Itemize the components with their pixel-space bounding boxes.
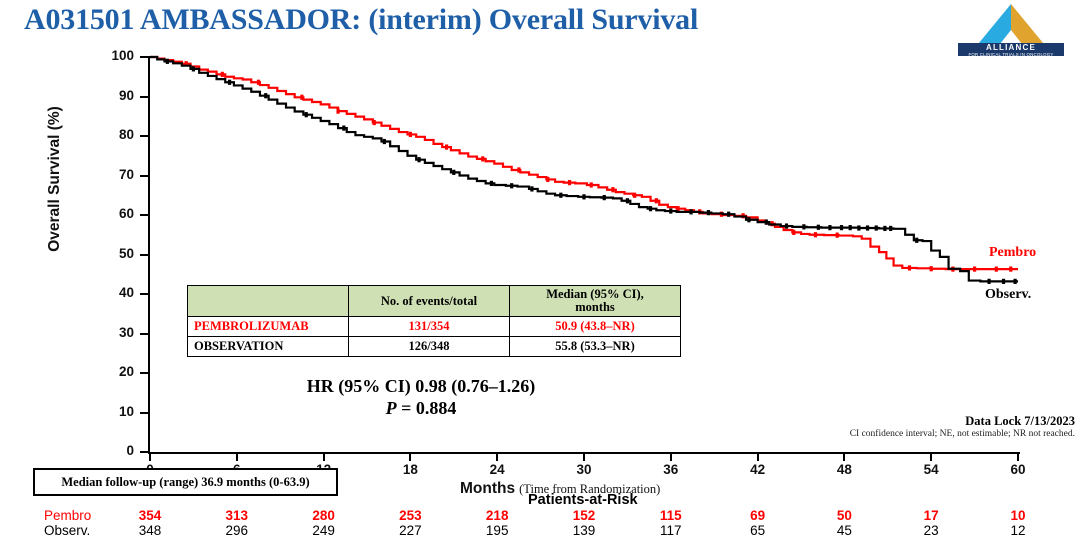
censor-mark bbox=[192, 66, 195, 71]
par-value-pembro: 17 bbox=[907, 508, 955, 523]
y-axis-tick bbox=[140, 333, 149, 335]
censor-mark bbox=[510, 183, 513, 188]
curve-label-pembro: Pembro bbox=[989, 245, 1036, 261]
censor-mark bbox=[530, 186, 533, 191]
censor-mark bbox=[490, 181, 493, 186]
par-value-pembro: 354 bbox=[126, 508, 174, 523]
par-value-observ: 65 bbox=[734, 523, 782, 538]
results-table: No. of events/total Median (95% CI), mon… bbox=[187, 285, 681, 357]
x-axis-tick bbox=[583, 452, 585, 461]
par-row-label-pembro: Pembro bbox=[44, 508, 91, 523]
censor-mark bbox=[987, 279, 990, 284]
par-value-pembro: 50 bbox=[820, 508, 868, 523]
censor-mark bbox=[698, 209, 701, 214]
par-value-observ: 117 bbox=[647, 523, 695, 538]
x-axis-tick bbox=[149, 452, 151, 461]
par-value-observ: 195 bbox=[473, 523, 521, 538]
censor-mark bbox=[257, 80, 260, 85]
x-axis-tick bbox=[409, 452, 411, 461]
x-axis-tick-label: 60 bbox=[998, 462, 1038, 477]
censor-mark bbox=[669, 208, 672, 213]
censor-mark bbox=[785, 223, 788, 228]
table-row: PEMBROLIZUMAB131/35450.9 (43.8–NR) bbox=[188, 317, 681, 337]
par-value-pembro: 115 bbox=[647, 508, 695, 523]
y-axis-tick bbox=[140, 412, 149, 414]
x-axis-tick bbox=[757, 452, 759, 461]
censor-mark bbox=[727, 212, 730, 217]
x-axis-tick bbox=[930, 452, 932, 461]
y-axis-tick bbox=[140, 451, 149, 453]
censor-mark bbox=[166, 59, 169, 64]
table-header-row: No. of events/total Median (95% CI), mon… bbox=[188, 286, 681, 317]
x-axis-label-main: Months bbox=[460, 480, 515, 497]
p-value: = 0.884 bbox=[397, 398, 457, 418]
par-value-pembro: 218 bbox=[473, 508, 521, 523]
y-axis-tick bbox=[140, 56, 149, 58]
censor-mark bbox=[546, 177, 549, 182]
censor-mark bbox=[300, 95, 303, 100]
censor-mark bbox=[915, 238, 918, 243]
par-value-observ: 249 bbox=[300, 523, 348, 538]
censor-mark bbox=[889, 226, 892, 231]
x-axis-tick-label: 54 bbox=[911, 462, 951, 477]
y-axis-tick bbox=[140, 175, 149, 177]
censor-mark bbox=[559, 193, 562, 198]
x-axis-tick-label: 30 bbox=[564, 462, 604, 477]
censor-mark bbox=[517, 167, 520, 172]
table-cell-arm: PEMBROLIZUMAB bbox=[188, 317, 349, 337]
censor-mark bbox=[814, 232, 817, 237]
table-header-median: Median (95% CI), months bbox=[510, 286, 681, 317]
x-axis-tick-label: 36 bbox=[651, 462, 691, 477]
censor-mark bbox=[817, 225, 820, 230]
censor-mark bbox=[689, 209, 692, 214]
censor-mark bbox=[626, 198, 629, 203]
y-axis-tick-label: 40 bbox=[100, 285, 134, 300]
data-lock-text: Data Lock 7/13/2023 bbox=[700, 414, 1075, 429]
censor-mark bbox=[582, 194, 585, 199]
censor-mark bbox=[875, 225, 878, 230]
censor-mark bbox=[720, 212, 723, 217]
table-cell-median: 50.9 (43.8–NR) bbox=[510, 317, 681, 337]
censor-mark bbox=[649, 206, 652, 211]
median-followup-box: Median follow-up (range) 36.9 months (0-… bbox=[33, 468, 338, 496]
x-axis-tick bbox=[236, 452, 238, 461]
censor-mark bbox=[908, 265, 911, 270]
censor-mark bbox=[417, 157, 420, 162]
par-value-pembro: 313 bbox=[213, 508, 261, 523]
y-axis-tick-label: 0 bbox=[100, 443, 134, 458]
page-title: A031501 AMBASSADOR: (interim) Overall Su… bbox=[24, 2, 944, 38]
x-axis-tick bbox=[670, 452, 672, 461]
footnote-text: CI confidence interval; NE, not estimabl… bbox=[650, 429, 1075, 439]
par-value-observ: 348 bbox=[126, 523, 174, 538]
par-value-pembro: 253 bbox=[386, 508, 434, 523]
censor-mark bbox=[995, 267, 998, 272]
censor-mark bbox=[707, 210, 710, 215]
censor-mark bbox=[1014, 279, 1017, 284]
censor-mark bbox=[264, 93, 267, 98]
alliance-logo-line1: ALLIANCE bbox=[958, 44, 1064, 52]
y-axis-tick-label: 10 bbox=[100, 404, 134, 419]
censor-mark bbox=[590, 182, 593, 187]
y-axis-tick-label: 90 bbox=[100, 88, 134, 103]
y-axis-tick bbox=[140, 293, 149, 295]
censor-mark bbox=[655, 198, 658, 203]
p-symbol: P bbox=[386, 398, 397, 418]
censor-mark bbox=[409, 132, 412, 137]
y-axis-tick-label: 20 bbox=[100, 364, 134, 379]
censor-mark bbox=[481, 156, 484, 161]
censor-mark bbox=[866, 225, 869, 230]
censor-mark bbox=[802, 224, 805, 229]
par-value-pembro: 10 bbox=[994, 508, 1042, 523]
censor-mark bbox=[336, 109, 339, 114]
censor-mark bbox=[1002, 279, 1005, 284]
hazard-ratio-line: HR (95% CI) 0.98 (0.76–1.26) bbox=[216, 375, 626, 397]
km-curve-pembro bbox=[150, 57, 1018, 269]
table-header-events: No. of events/total bbox=[349, 286, 510, 317]
p-value-line: P = 0.884 bbox=[216, 397, 626, 419]
km-curve-observ bbox=[150, 57, 1018, 281]
table-cell-median: 55.8 (53.3–NR) bbox=[510, 337, 681, 357]
y-axis-tick-label: 70 bbox=[100, 167, 134, 182]
slide-canvas: A031501 AMBASSADOR: (interim) Overall Su… bbox=[0, 0, 1080, 538]
alliance-logo: ALLIANCE FOR CLINICAL TRIALS IN ONCOLOGY bbox=[952, 2, 1070, 56]
y-axis-tick bbox=[140, 214, 149, 216]
censor-mark bbox=[840, 225, 843, 230]
y-axis-tick-label: 50 bbox=[100, 246, 134, 261]
censor-mark bbox=[305, 112, 308, 117]
x-axis-tick bbox=[496, 452, 498, 461]
par-value-observ: 296 bbox=[213, 523, 261, 538]
censor-mark bbox=[373, 120, 376, 125]
censor-mark bbox=[742, 213, 745, 218]
patients-at-risk-title: Patients-at-Risk bbox=[528, 492, 638, 508]
censor-mark bbox=[221, 72, 224, 77]
x-axis-tick bbox=[843, 452, 845, 461]
censor-mark bbox=[951, 267, 954, 272]
alliance-logo-band: ALLIANCE FOR CLINICAL TRIALS IN ONCOLOGY bbox=[958, 43, 1064, 56]
table-cell-events: 131/354 bbox=[349, 317, 510, 337]
table-header-median-line2: months bbox=[516, 301, 674, 314]
censor-mark bbox=[603, 195, 606, 200]
censor-mark bbox=[611, 187, 614, 192]
censor-mark bbox=[342, 126, 345, 131]
statistics-block: HR (95% CI) 0.98 (0.76–1.26) P = 0.884 bbox=[216, 375, 626, 419]
x-axis-tick-label: 42 bbox=[738, 462, 778, 477]
x-axis-tick-label: 18 bbox=[390, 462, 430, 477]
par-row-label-observ: Observ. bbox=[44, 523, 90, 538]
censor-mark bbox=[568, 180, 571, 185]
par-value-observ: 227 bbox=[386, 523, 434, 538]
censor-mark bbox=[836, 233, 839, 238]
censor-mark bbox=[185, 61, 188, 66]
y-axis-tick bbox=[140, 254, 149, 256]
table-cell-events: 126/348 bbox=[349, 337, 510, 357]
censor-mark bbox=[770, 221, 773, 226]
table-row: OBSERVATION126/34855.8 (53.3–NR) bbox=[188, 337, 681, 357]
y-axis-tick-label: 60 bbox=[100, 206, 134, 221]
censor-mark bbox=[849, 225, 852, 230]
censor-mark bbox=[747, 217, 750, 222]
table-header-blank bbox=[188, 286, 349, 317]
y-axis-tick bbox=[140, 135, 149, 137]
censor-mark bbox=[930, 266, 933, 271]
km-curves bbox=[0, 0, 1080, 538]
censor-mark bbox=[228, 80, 231, 85]
par-value-observ: 139 bbox=[560, 523, 608, 538]
y-axis-tick-label: 80 bbox=[100, 127, 134, 142]
par-value-observ: 23 bbox=[907, 523, 955, 538]
y-axis-label: Overall Survival (%) bbox=[46, 64, 64, 294]
y-axis-tick bbox=[140, 372, 149, 374]
censor-mark bbox=[857, 225, 860, 230]
censor-mark bbox=[445, 144, 448, 149]
censor-mark bbox=[792, 230, 795, 235]
censor-mark bbox=[1009, 267, 1012, 272]
par-value-pembro: 69 bbox=[734, 508, 782, 523]
par-value-pembro: 280 bbox=[300, 508, 348, 523]
censor-mark bbox=[452, 170, 455, 175]
censor-mark bbox=[383, 139, 386, 144]
x-axis-tick bbox=[1017, 452, 1019, 461]
y-axis-tick-label: 30 bbox=[100, 325, 134, 340]
censor-mark bbox=[633, 193, 636, 198]
y-axis-tick bbox=[140, 96, 149, 98]
censor-mark bbox=[765, 220, 768, 225]
y-axis-tick-label: 100 bbox=[100, 48, 134, 63]
par-value-pembro: 152 bbox=[560, 508, 608, 523]
censor-mark bbox=[676, 206, 679, 211]
par-value-observ: 45 bbox=[820, 523, 868, 538]
censor-mark bbox=[883, 226, 886, 231]
table-cell-arm: OBSERVATION bbox=[188, 337, 349, 357]
alliance-logo-line2: FOR CLINICAL TRIALS IN ONCOLOGY bbox=[958, 52, 1064, 57]
x-axis-tick bbox=[323, 452, 325, 461]
par-value-observ: 12 bbox=[994, 523, 1042, 538]
x-axis-tick-label: 48 bbox=[824, 462, 864, 477]
censor-mark bbox=[828, 225, 831, 230]
censor-mark bbox=[973, 267, 976, 272]
x-axis-tick-label: 24 bbox=[477, 462, 517, 477]
curve-label-observ: Observ. bbox=[985, 287, 1031, 303]
